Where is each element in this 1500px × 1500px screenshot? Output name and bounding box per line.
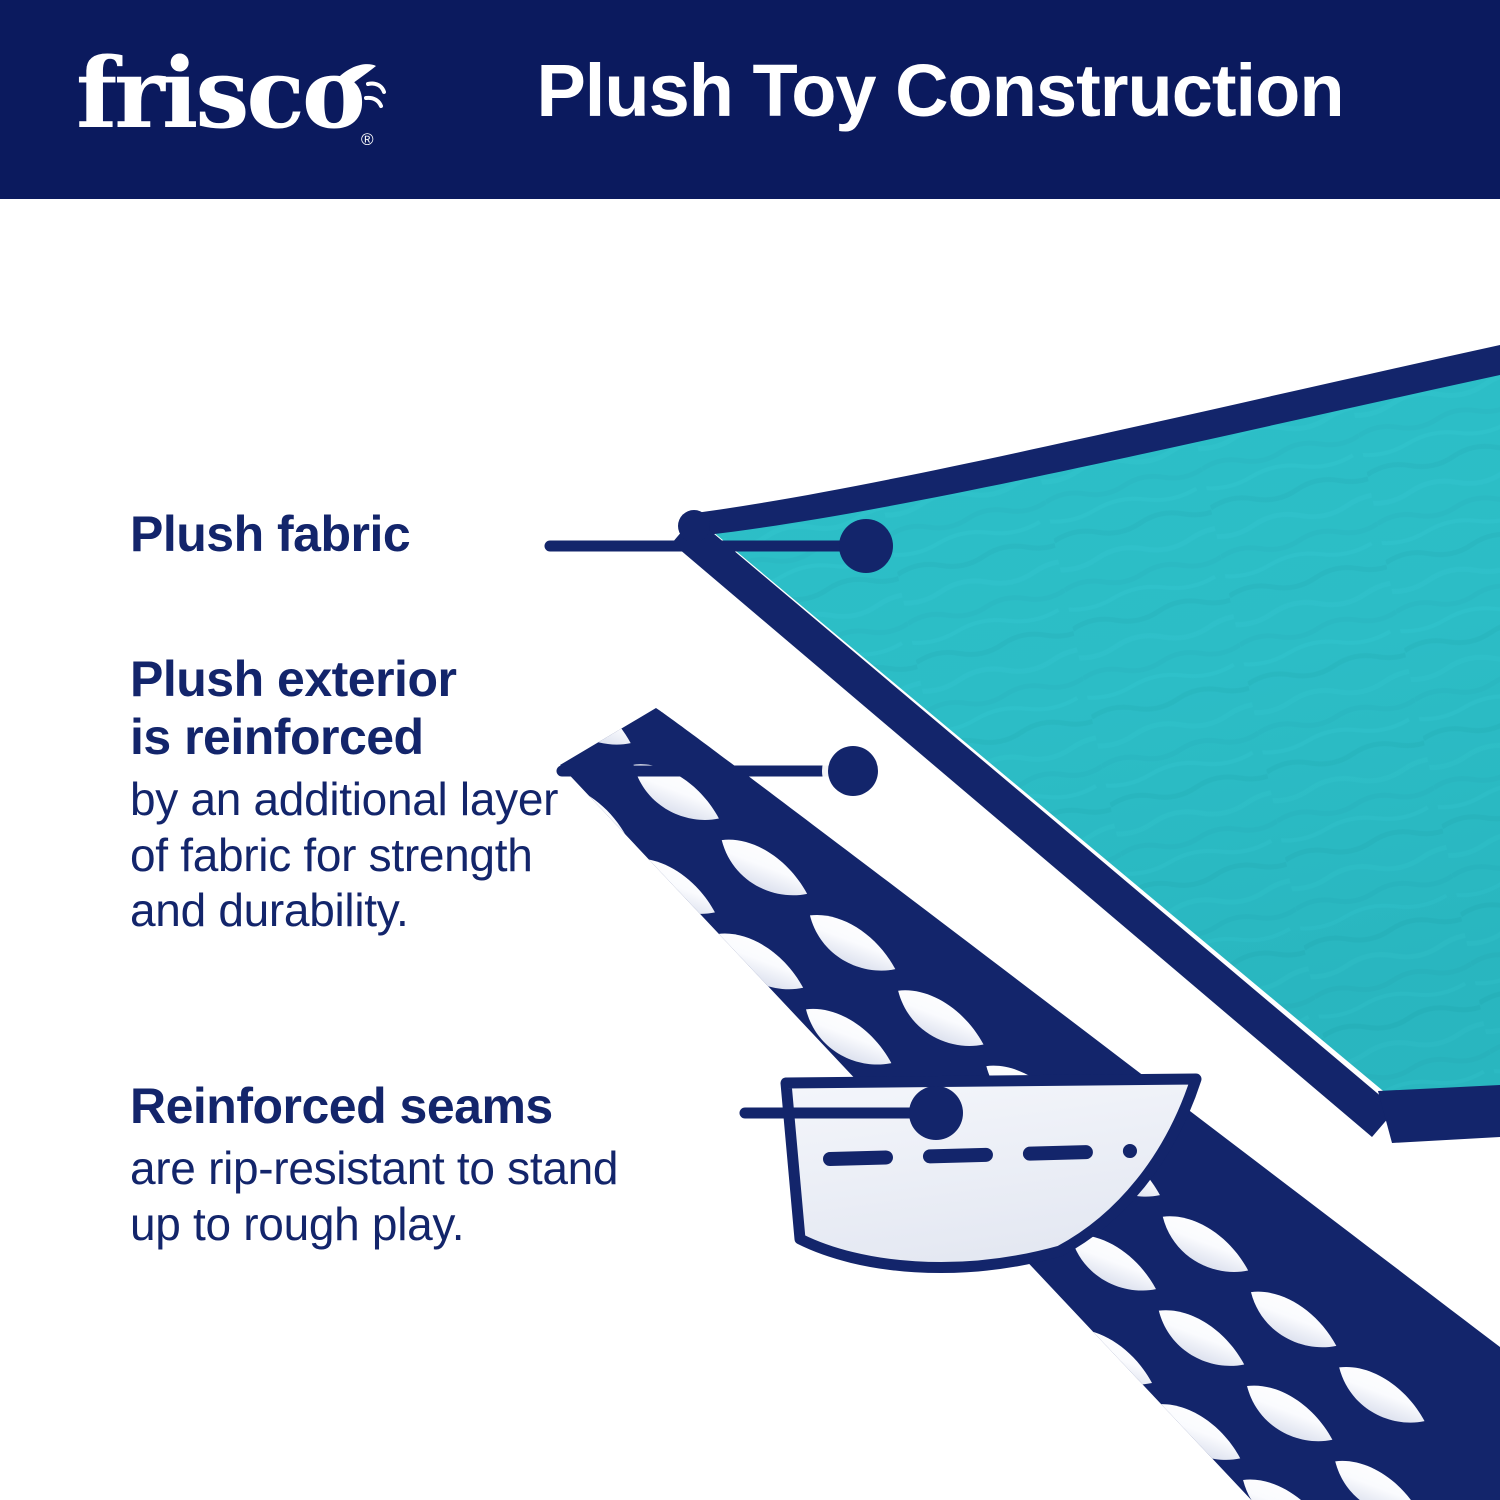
fabric-bottom-binding — [1378, 1085, 1500, 1143]
callout-body: are rip-resistant to stand up to rough p… — [130, 1141, 618, 1252]
registered-trademark-icon: ® — [361, 130, 374, 150]
plush-fabric-panel — [672, 345, 1500, 1143]
callout-heading: Plush fabric — [130, 505, 410, 563]
fabric-corner-tip — [678, 510, 710, 542]
leader-dot-reinforced-seams — [909, 1086, 963, 1140]
header-bar: frisco ® Plush Toy Construction — [0, 0, 1500, 199]
leader-dot-plush-fabric — [839, 519, 893, 573]
leader-dot-reinforced-exterior — [828, 746, 878, 796]
page-title: Plush Toy Construction — [430, 52, 1450, 130]
callout-heading: Plush exterior is reinforced — [130, 650, 558, 766]
infographic-page: frisco ® Plush Toy Construction — [0, 0, 1500, 1500]
callout-plush-exterior-reinforced: Plush exterior is reinforced by an addit… — [130, 650, 558, 939]
brand-wordmark: frisco — [76, 46, 363, 142]
frisco-logo: frisco ® — [76, 44, 386, 154]
callout-plush-fabric: Plush fabric — [130, 505, 410, 563]
stitch-dashes — [830, 1151, 1130, 1159]
callout-body: by an additional layer of fabric for str… — [130, 772, 558, 939]
callout-reinforced-seams: Reinforced seams are rip-resistant to st… — [130, 1077, 618, 1252]
callout-heading: Reinforced seams — [130, 1077, 618, 1135]
